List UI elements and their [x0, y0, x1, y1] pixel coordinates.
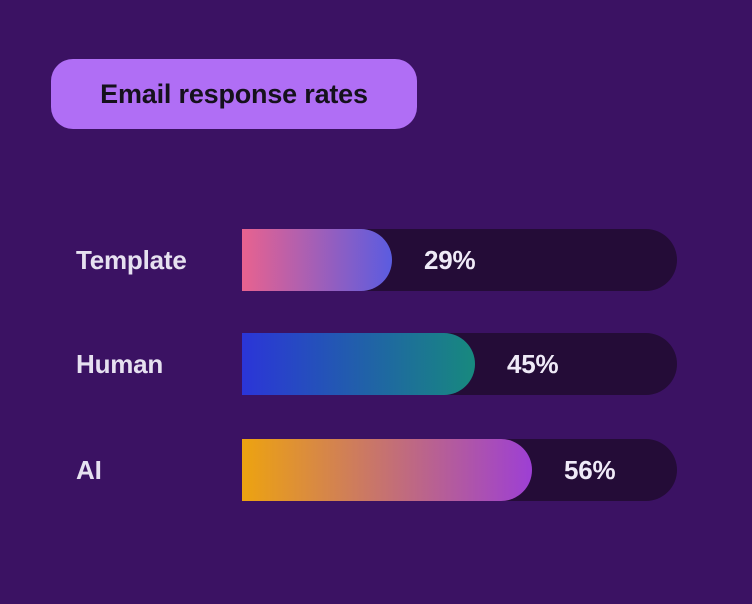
- bar-track-human: [242, 333, 677, 395]
- bar-row: Template 29%: [76, 229, 677, 291]
- bar-label-ai: AI: [76, 439, 102, 501]
- bar-row: AI 56%: [76, 439, 677, 501]
- bar-fill-template: [242, 229, 392, 291]
- bar-chart: Template 29% Human 45% AI 56%: [0, 0, 752, 604]
- bar-fill-human: [242, 333, 475, 395]
- bar-label-template: Template: [76, 229, 187, 291]
- bar-row: Human 45%: [76, 333, 677, 395]
- bar-fill-ai: [242, 439, 532, 501]
- bar-value-ai: 56%: [564, 439, 615, 501]
- bar-value-human: 45%: [507, 333, 558, 395]
- bar-value-template: 29%: [424, 229, 475, 291]
- bar-label-human: Human: [76, 333, 163, 395]
